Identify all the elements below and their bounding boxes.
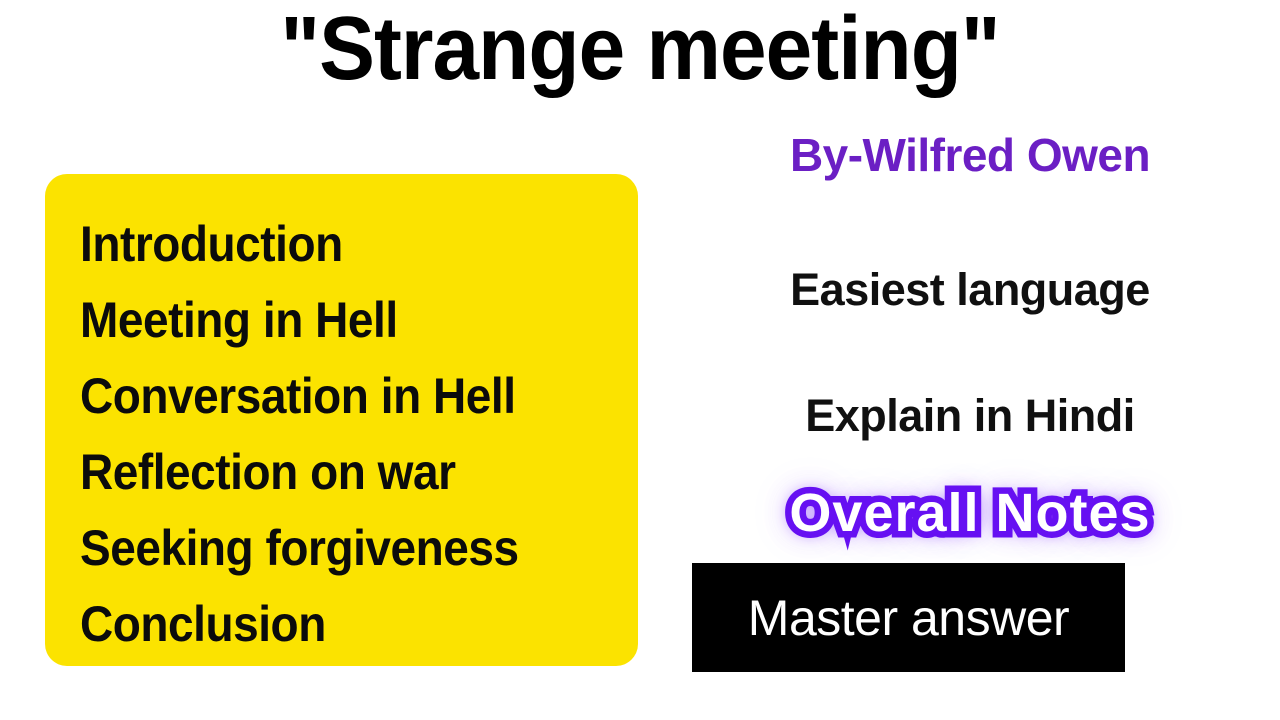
list-item: Meeting in Hell [80, 282, 593, 358]
topic-list: Introduction Meeting in Hell Conversatio… [80, 206, 638, 662]
author-credit: By-Wilfred Owen [660, 126, 1280, 184]
list-item: Reflection on war [80, 434, 593, 510]
overall-notes-label: Overall Notes [660, 482, 1280, 544]
list-item: Seeking forgiveness [80, 510, 593, 586]
feature-explain-in-hindi: Explain in Hindi [660, 388, 1280, 444]
master-answer-banner: Master answer [692, 563, 1125, 672]
list-item: Introduction [80, 206, 593, 282]
topic-outline-card: Introduction Meeting in Hell Conversatio… [45, 174, 638, 666]
overall-notes-badge: Overall Notes Overall Notes [660, 482, 1280, 552]
list-item: Conversation in Hell [80, 358, 593, 434]
list-item: Conclusion [80, 586, 593, 662]
master-answer-label: Master answer [748, 589, 1069, 647]
right-column: By-Wilfred Owen Easiest language Explain… [660, 0, 1280, 720]
feature-easiest-language: Easiest language [660, 262, 1280, 318]
poster-canvas: "Strange meeting" Introduction Meeting i… [0, 0, 1280, 720]
